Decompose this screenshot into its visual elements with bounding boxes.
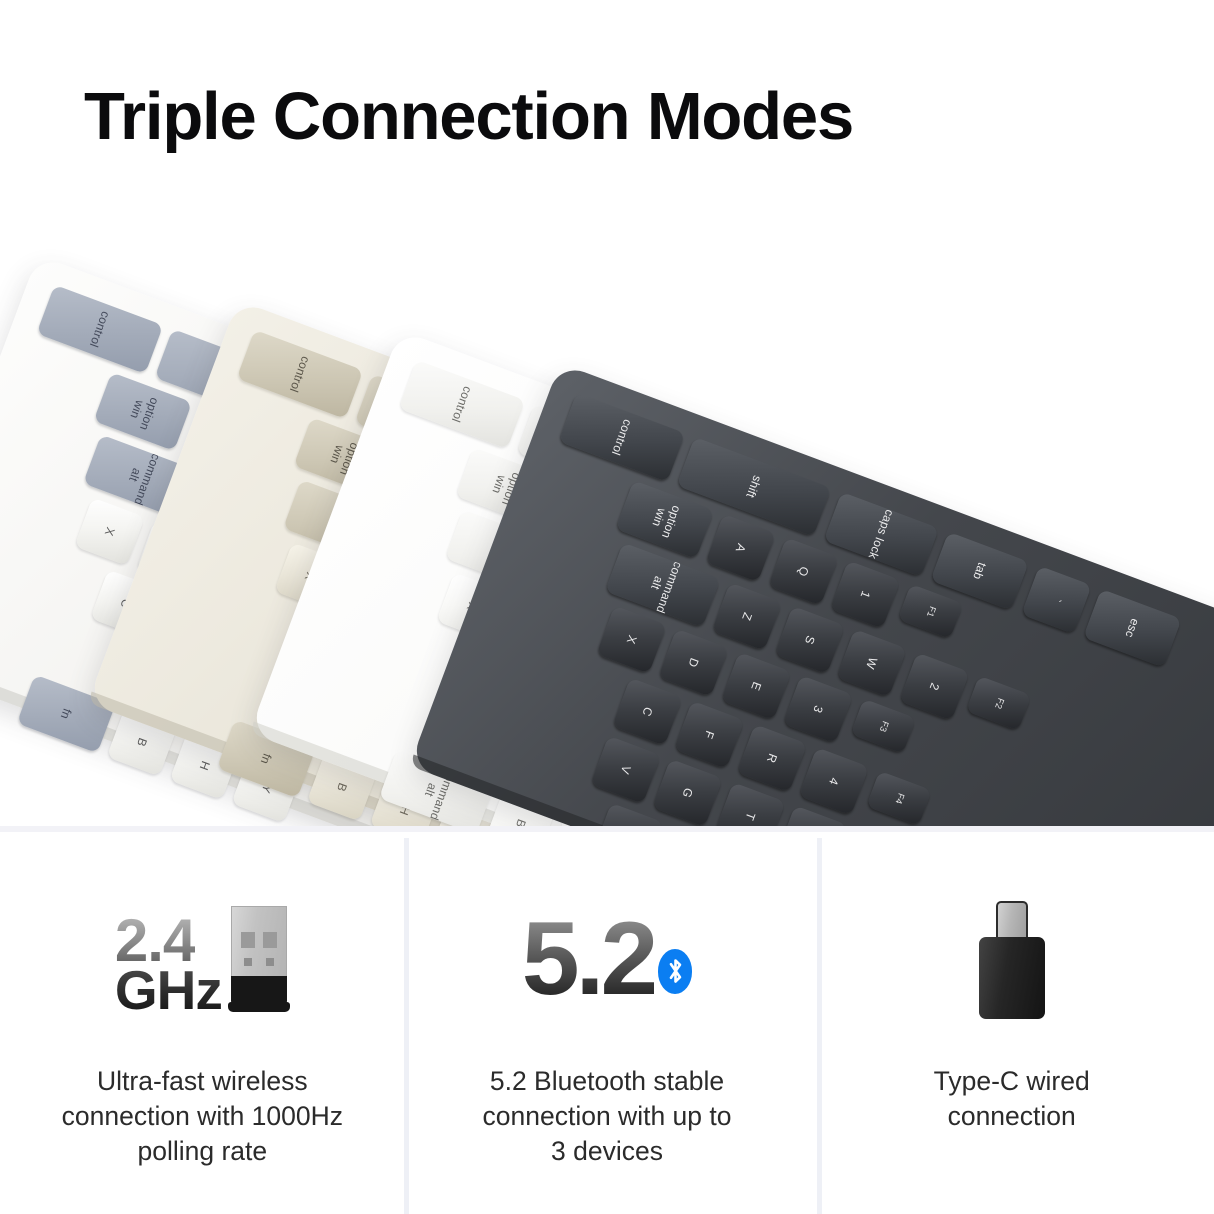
ghz-text: 2.4 GHz xyxy=(115,915,222,1014)
usb-dongle-icon xyxy=(228,906,290,1012)
page-title: Triple Connection Modes xyxy=(84,82,853,152)
key-a: A xyxy=(706,514,777,582)
key-2: 2 xyxy=(899,652,970,720)
feature-panel-type-c-wired: Type-C wired connection xyxy=(809,832,1214,1214)
keycap-grid: control shift caps lock tab ` esc option… xyxy=(439,393,1214,826)
key-r: R xyxy=(737,724,808,792)
bluetooth-version-value: 5.2 xyxy=(522,916,655,1003)
key-q: Q xyxy=(768,537,839,605)
usb-dongle-hole xyxy=(241,932,255,948)
ghz-lockup: 2.4 GHz xyxy=(115,906,290,1014)
key-x: X xyxy=(74,497,145,565)
key-c: C xyxy=(612,678,683,746)
usb-dongle-foot xyxy=(228,1002,290,1012)
usb-dongle-metal xyxy=(231,906,287,978)
usb-dongle-hole xyxy=(263,932,277,948)
key-3: 3 xyxy=(783,675,854,743)
type-c-body xyxy=(979,937,1045,1019)
key-x: X xyxy=(596,605,667,673)
key-f: F xyxy=(674,701,745,769)
key-z: Z xyxy=(712,583,783,651)
feature-visual xyxy=(979,880,1045,1040)
bluetooth-lockup: 5.2 xyxy=(522,916,693,1003)
feature-caption: 5.2 Bluetooth stable connection with up … xyxy=(483,1064,732,1170)
feature-panels: 2.4 GHz Ultra-fast wireless connection w… xyxy=(0,832,1214,1214)
feature-caption: Type-C wired connection xyxy=(934,1064,1090,1134)
feature-caption: Ultra-fast wireless connection with 1000… xyxy=(62,1064,343,1170)
key-e: E xyxy=(721,652,792,720)
ghz-unit: GHz xyxy=(115,967,222,1014)
key-s: S xyxy=(774,606,845,674)
keyboard-stack: control shift caps lock tab ` esc option… xyxy=(0,195,1214,826)
feature-visual: 5.2 xyxy=(522,880,693,1040)
usb-dongle-pin xyxy=(244,958,252,966)
feature-visual: 2.4 GHz xyxy=(115,880,290,1040)
key-f2: F2 xyxy=(966,676,1032,731)
key-1: 1 xyxy=(830,561,901,629)
key-v: V xyxy=(590,736,661,804)
usb-dongle-pin xyxy=(266,958,274,966)
key-f4: F4 xyxy=(866,771,932,826)
key-4: 4 xyxy=(799,747,870,815)
key-g: G xyxy=(653,759,724,826)
key-d: D xyxy=(659,629,730,697)
type-c-tip xyxy=(996,901,1028,941)
hero-keyboard-image: control shift caps lock tab ` esc option… xyxy=(0,195,1214,826)
bluetooth-icon xyxy=(658,949,692,994)
usb-type-c-icon xyxy=(979,901,1045,1019)
feature-panel-wireless-24ghz: 2.4 GHz Ultra-fast wireless connection w… xyxy=(0,832,405,1214)
feature-panel-bluetooth-52: 5.2 5.2 Bluetooth stable connection with… xyxy=(405,832,810,1214)
key-w: W xyxy=(837,629,908,697)
